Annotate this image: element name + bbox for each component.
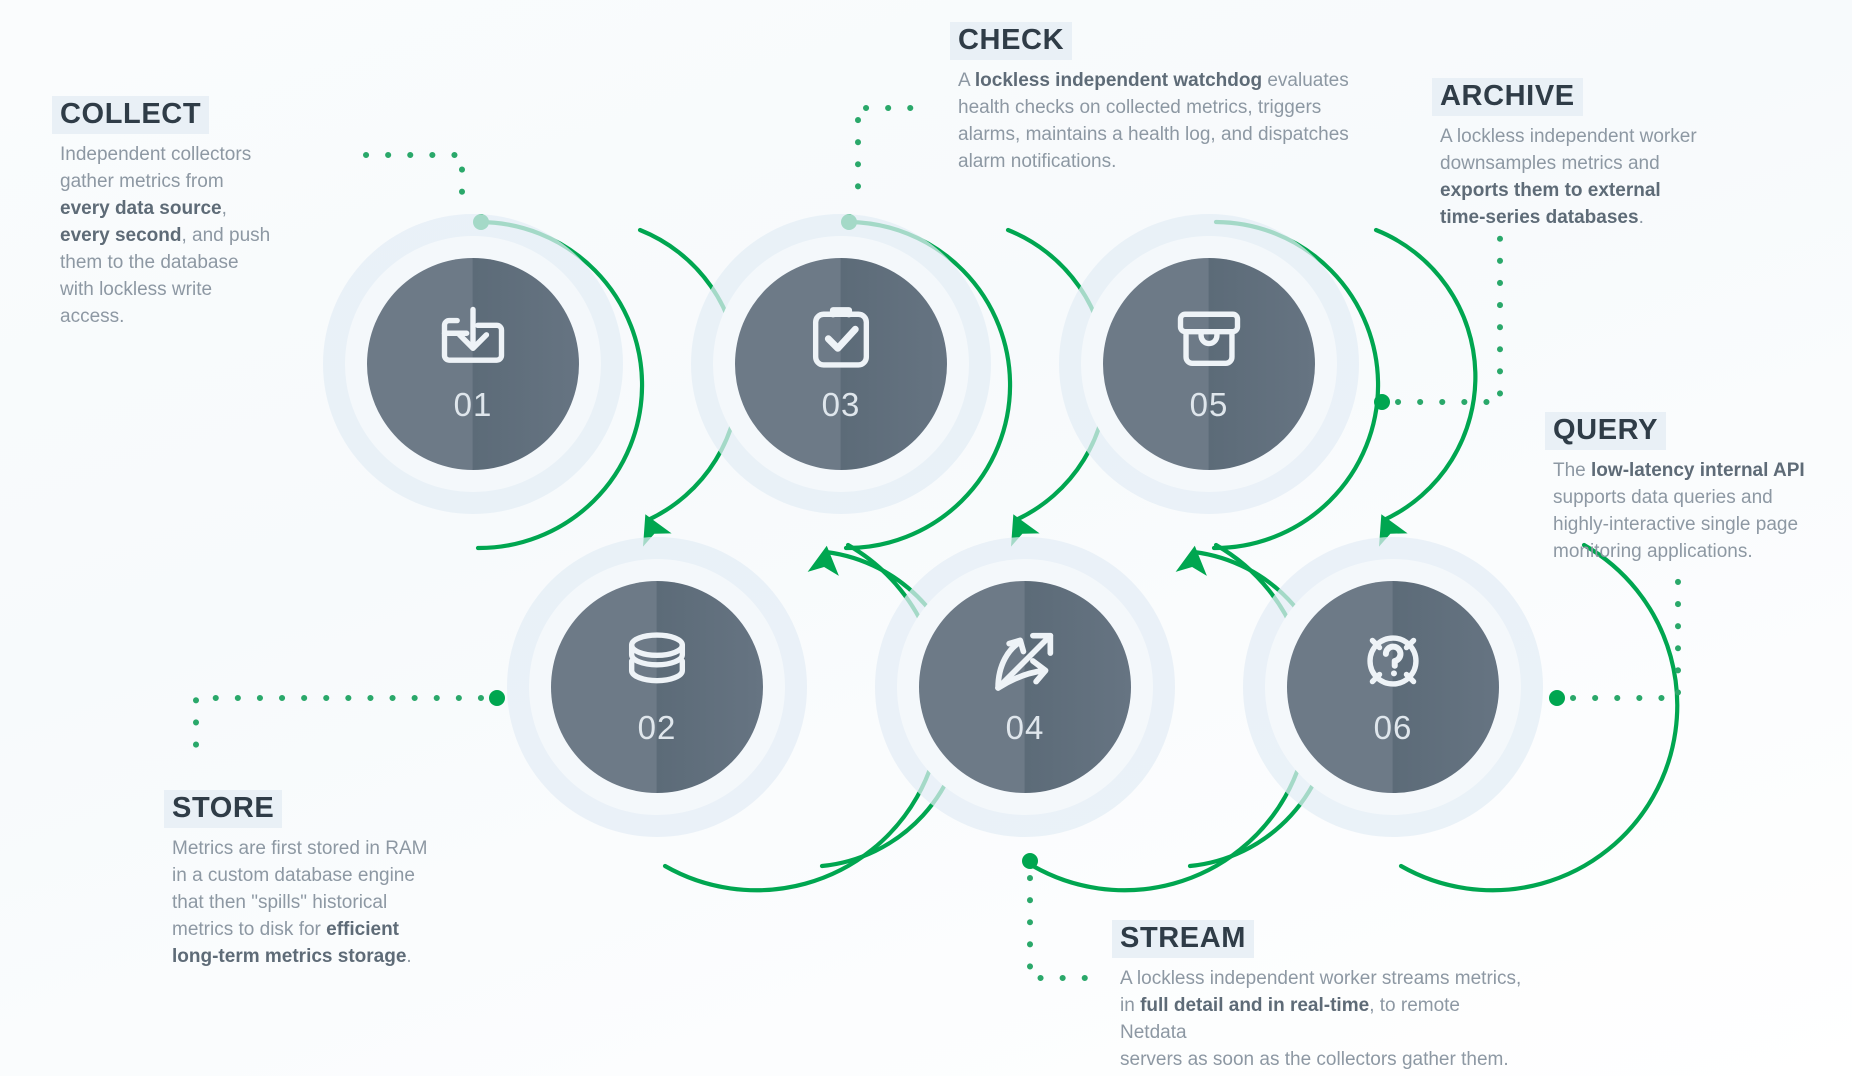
- block-body-collect: Independent collectorsgather metrics fro…: [52, 142, 352, 331]
- clipboard-check-icon: [803, 300, 879, 376]
- block-heading-stream: STREAM: [1112, 920, 1254, 958]
- block-body-check: A lockless independent watchdog evaluate…: [950, 68, 1400, 176]
- node-disc: 04: [919, 581, 1131, 793]
- leader-store: [196, 698, 481, 760]
- block-heading-store: STORE: [164, 790, 282, 828]
- archive-box-icon: [1171, 300, 1247, 376]
- block-collect: COLLECT Independent collectorsgather met…: [52, 96, 352, 331]
- block-store: STORE Metrics are first stored in RAMin …: [112, 790, 432, 971]
- node-01[interactable]: 01: [323, 214, 623, 514]
- diagram-canvas: 01 02: [0, 0, 1852, 1076]
- node-disc: 06: [1287, 581, 1499, 793]
- leader-query: [1573, 572, 1678, 698]
- node-number: 02: [638, 709, 677, 747]
- block-archive: ARCHIVE A lockless independent workerdow…: [1432, 78, 1762, 232]
- anchor-archive: [1374, 394, 1390, 410]
- leader-archive: [1398, 236, 1500, 402]
- branching-arrows-icon: [987, 623, 1063, 699]
- block-body-store: Metrics are first stored in RAMin a cust…: [112, 836, 432, 971]
- block-stream: STREAM A lockless independent worker str…: [1060, 920, 1530, 1074]
- node-02[interactable]: 02: [507, 537, 807, 837]
- anchor-query: [1549, 690, 1565, 706]
- database-stack-icon: [619, 623, 695, 699]
- block-heading-archive: ARCHIVE: [1432, 78, 1583, 116]
- download-box-icon: [435, 300, 511, 376]
- block-body-stream: A lockless independent worker streams me…: [1060, 966, 1530, 1074]
- question-circle-icon: [1355, 623, 1431, 699]
- node-disc: 05: [1103, 258, 1315, 470]
- node-number: 05: [1190, 386, 1229, 424]
- block-body-archive: A lockless independent workerdownsamples…: [1432, 124, 1762, 232]
- block-body-query: The low-latency internal APIsupports dat…: [1545, 458, 1852, 566]
- block-heading-check: CHECK: [950, 22, 1072, 60]
- node-number: 01: [454, 386, 493, 424]
- block-heading-collect: COLLECT: [52, 96, 209, 134]
- node-disc: 01: [367, 258, 579, 470]
- node-06[interactable]: 06: [1243, 537, 1543, 837]
- node-03[interactable]: 03: [691, 214, 991, 514]
- node-05[interactable]: 05: [1059, 214, 1359, 514]
- link-05-to-06: [1376, 230, 1475, 520]
- node-disc: 02: [551, 581, 763, 793]
- block-query: QUERY The low-latency internal APIsuppor…: [1545, 412, 1852, 566]
- node-number: 03: [822, 386, 861, 424]
- block-check: CHECK A lockless independent watchdog ev…: [950, 22, 1400, 176]
- block-heading-query: QUERY: [1545, 412, 1666, 450]
- anchor-stream: [1022, 853, 1038, 869]
- node-number: 06: [1374, 709, 1413, 747]
- node-disc: 03: [735, 258, 947, 470]
- leader-collect: [366, 155, 462, 210]
- node-number: 04: [1006, 709, 1045, 747]
- node-04[interactable]: 04: [875, 537, 1175, 837]
- anchor-store: [489, 690, 505, 706]
